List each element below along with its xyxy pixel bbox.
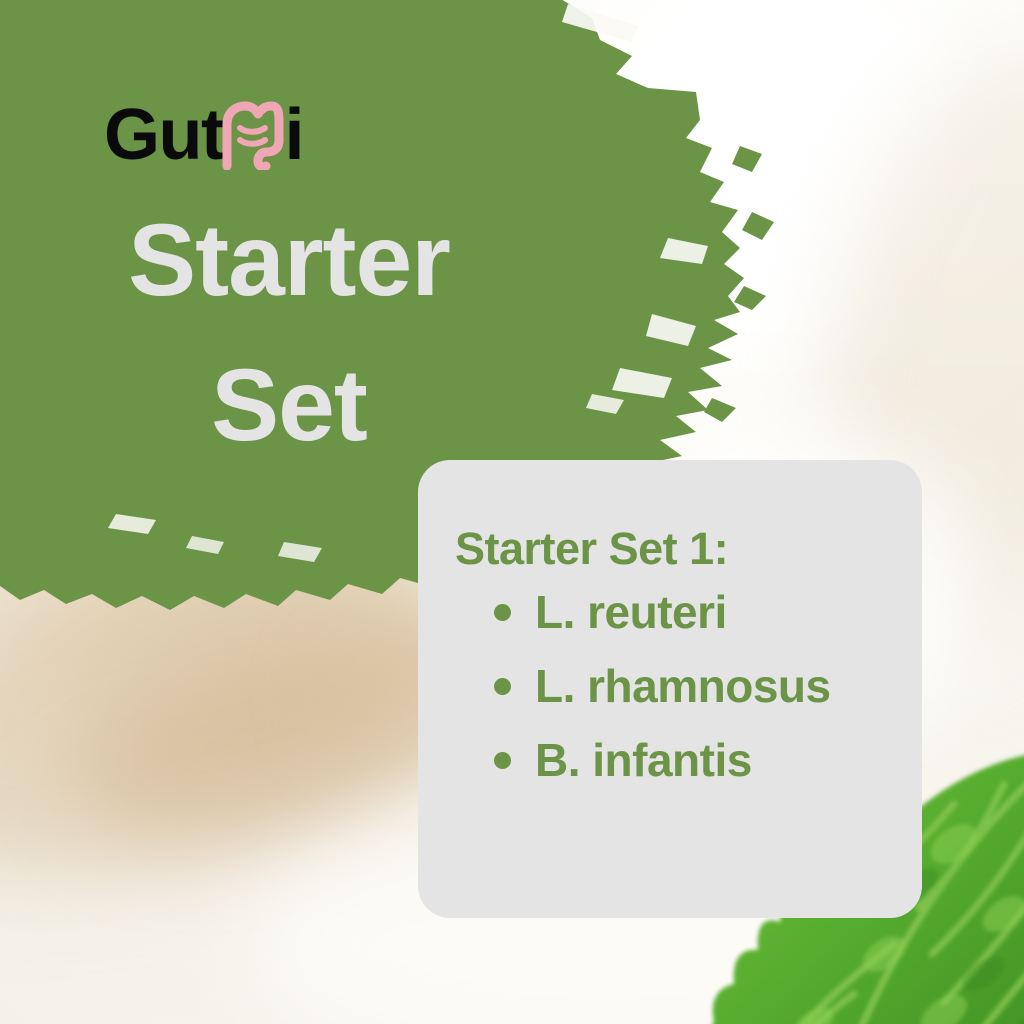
intestine-icon (220, 100, 286, 170)
page-title: Starter Set (54, 188, 524, 478)
list-item: L. rhamnosus (494, 663, 892, 709)
headline-line-2: Set (54, 333, 524, 478)
starter-set-card: Starter Set 1: L. reuteri L. rhamnosus B… (418, 460, 922, 918)
bullet-icon (494, 678, 511, 695)
strain-label: B. infantis (535, 737, 752, 783)
logo-text-gut: Gut (104, 99, 223, 171)
brand-logo: Gut i (104, 96, 303, 174)
logo-text-i: i (284, 99, 303, 171)
strain-label: L. rhamnosus (535, 663, 831, 709)
strain-list: L. reuteri L. rhamnosus B. infantis (446, 589, 892, 783)
list-item: B. infantis (494, 737, 892, 783)
bullet-icon (494, 604, 511, 621)
headline-line-1: Starter (54, 188, 524, 333)
poster-canvas: Gut i Starter Set Starter Set 1: (0, 0, 1024, 1024)
card-title: Starter Set 1: (455, 526, 892, 571)
list-item: L. reuteri (494, 589, 892, 635)
bullet-icon (494, 752, 511, 769)
strain-label: L. reuteri (535, 589, 727, 635)
